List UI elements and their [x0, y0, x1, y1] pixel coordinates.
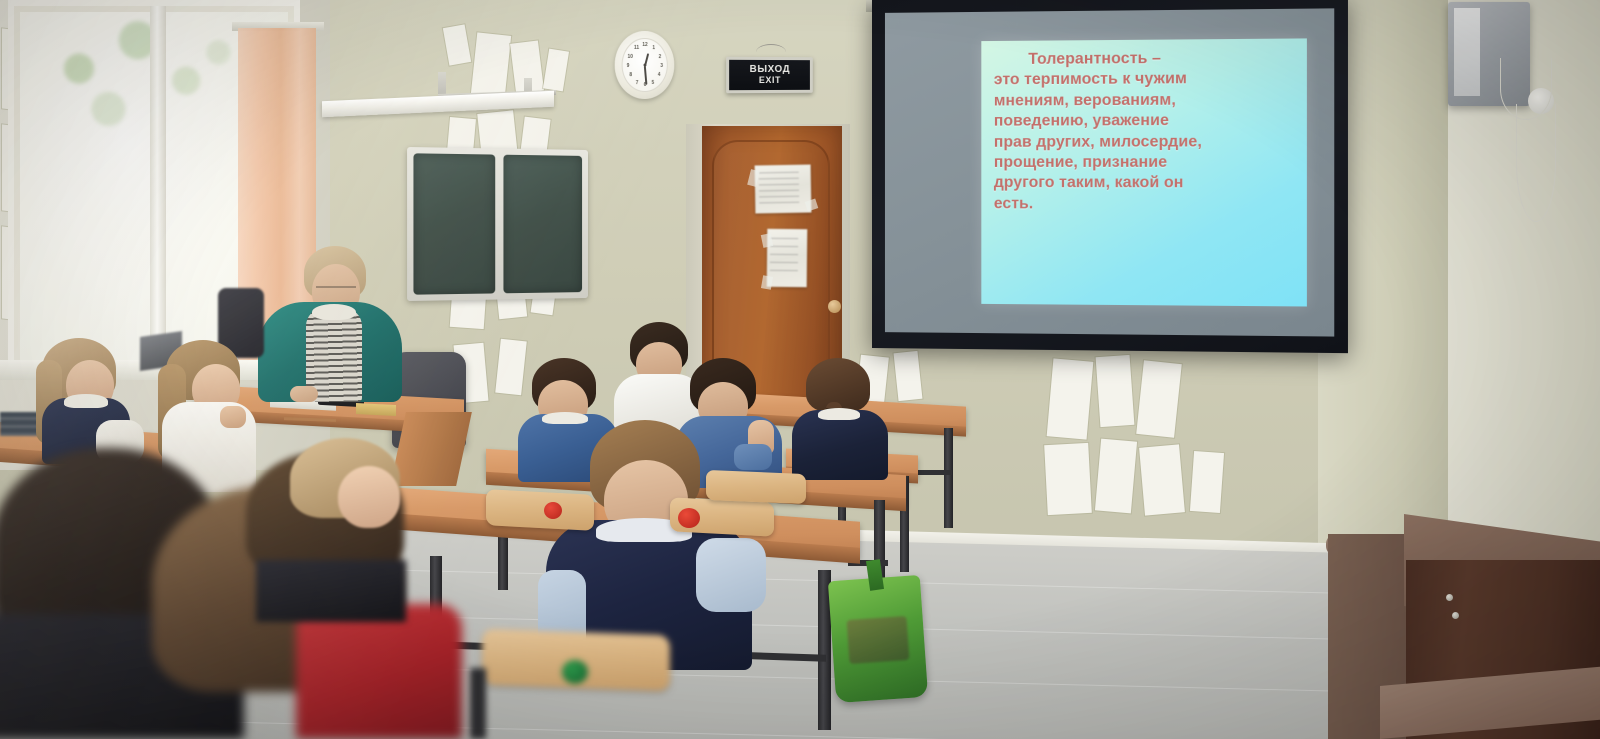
- clock-minute-hand: [644, 66, 647, 85]
- student-uniform: [792, 410, 888, 480]
- wall-tile: [1136, 360, 1182, 438]
- presentation-slide: Толерантность – это терпимость к чужим м…: [982, 38, 1307, 307]
- teacher-collar: [312, 304, 356, 320]
- door-handle[interactable]: [828, 300, 841, 313]
- slide-body: это терпимость к чужим мнениям, веровани…: [994, 68, 1296, 215]
- green-tote-bag-print: [847, 616, 910, 664]
- podium-knob[interactable]: [1446, 594, 1453, 601]
- door-notice-upper: [755, 165, 812, 214]
- teacher-glasses: [316, 286, 356, 293]
- slide-title: Толерантность –: [994, 47, 1296, 70]
- student-shirt-sleeve: [696, 538, 766, 612]
- projection-screen: Толерантность – это терпимость к чужим м…: [872, 0, 1348, 353]
- wall-unit-cable: [1516, 104, 1556, 222]
- wall-tile: [1190, 451, 1224, 513]
- student-head: [338, 466, 400, 528]
- back-desk-leg: [944, 428, 953, 528]
- chair-back[interactable]: [706, 470, 806, 504]
- chair-frame: [470, 668, 486, 739]
- exit-sign-label-en: EXIT: [759, 76, 781, 85]
- wall-tile: [1139, 444, 1185, 515]
- wall-tile: [1096, 355, 1135, 427]
- student-top: [256, 560, 406, 622]
- exit-sign-label-ru: ВЫХОД: [750, 65, 791, 76]
- chalkboard: [407, 147, 588, 301]
- wall-tile: [1047, 358, 1094, 439]
- chalkboard-panel-right: [503, 155, 582, 294]
- wall-tile: [894, 351, 923, 401]
- clock-center-pin: [644, 63, 647, 66]
- screen-surface: Толерантность – это терпимость к чужим м…: [885, 8, 1334, 336]
- desk-yellow-item: [356, 403, 396, 416]
- podium-knob[interactable]: [1452, 612, 1459, 619]
- chair-back[interactable]: [486, 489, 594, 531]
- wall-tile: [1095, 439, 1137, 514]
- student-girl-ponytail-left: [34, 338, 130, 464]
- student-collar: [818, 408, 860, 420]
- student-red-top: [296, 604, 462, 739]
- green-height-sticker: [562, 660, 588, 684]
- wall-clock: 12 1 2 3 4 5 6 7 8 9 10 11: [615, 30, 675, 99]
- window-mullion: [150, 6, 166, 366]
- wall-unit-face: [1454, 8, 1480, 96]
- wall-tile: [471, 32, 511, 97]
- teacher: [256, 246, 404, 398]
- student-girl-braid: [792, 358, 888, 480]
- red-height-sticker: [544, 502, 562, 519]
- wall-tile: [1044, 443, 1092, 515]
- classroom-photo: 12 1 2 3 4 5 6 7 8 9 10 11 ВЫХОД EXIT: [0, 0, 1600, 739]
- student-collar: [64, 394, 108, 408]
- clock-face: 12 1 2 3 4 5 6 7 8 9 10 11: [622, 38, 668, 93]
- exit-sign: ВЫХОД EXIT: [726, 57, 813, 93]
- teacher-hand: [290, 386, 318, 402]
- student-boy-blond-midleft: [290, 438, 418, 558]
- student-hand: [220, 406, 246, 428]
- red-height-sticker: [678, 508, 700, 528]
- chalkboard-panel-left: [413, 153, 495, 294]
